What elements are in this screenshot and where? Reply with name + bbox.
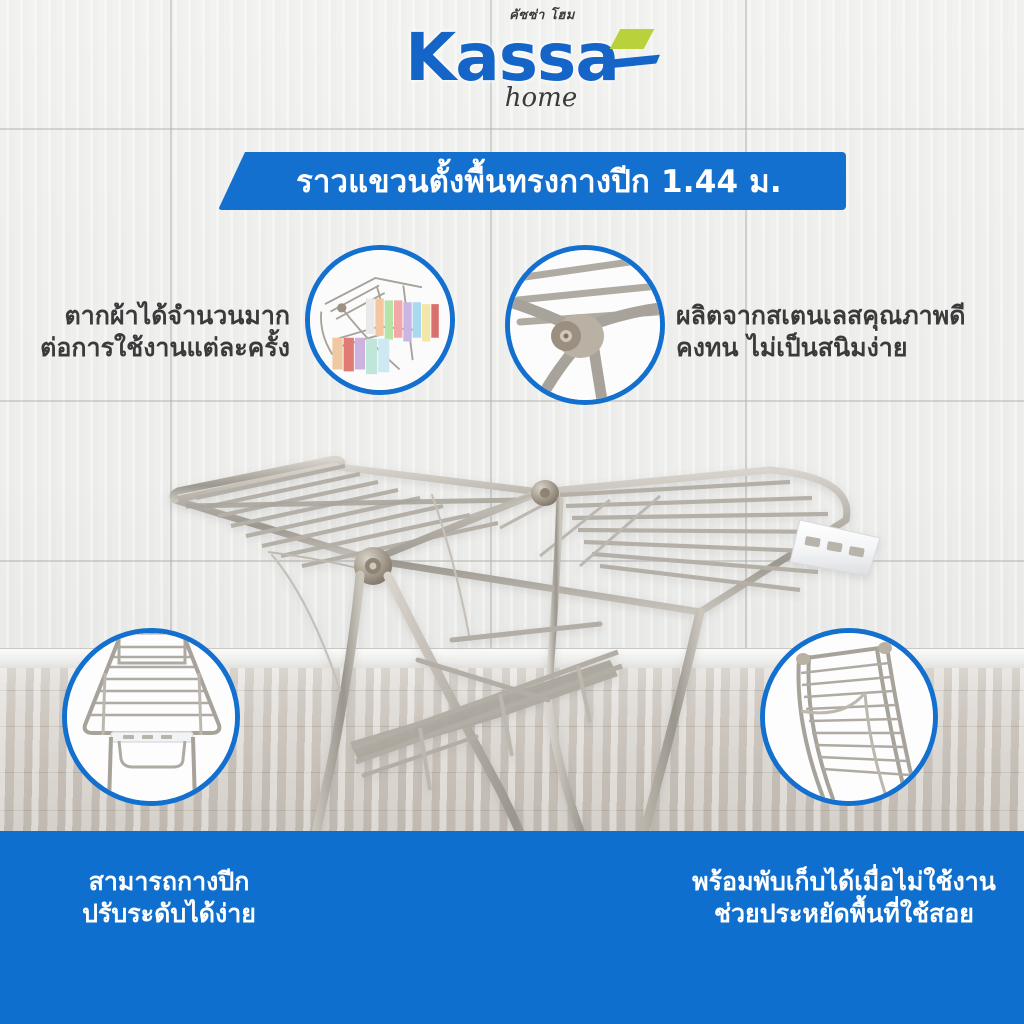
wall-tile-seam (0, 560, 1024, 562)
rack-with-clothes-illustration (310, 250, 450, 390)
feature-text-foldable: พร้อมพับเก็บได้เมื่อไม่ใช้งาน ช่วยประหยั… (672, 866, 1016, 930)
feature-capacity-line2: ต่อการใช้งานแต่ละครั้ง (16, 332, 290, 364)
brand-logo: คัซซ่า โฮม Kassa home (0, 4, 1024, 134)
product-advertisement-poster: คัซซ่า โฮม Kassa home ราวแขวนตั้งพื้นทรง… (0, 0, 1024, 1024)
wing-panel-front-illustration (67, 633, 237, 803)
feature-material-line2: คงทน ไม่เป็นสนิมง่าย (676, 332, 1016, 364)
steel-joint-closeup-illustration (510, 250, 660, 400)
product-title-banner: ราวแขวนตั้งพื้นทรงกางปีก 1.44 ม. (218, 152, 846, 210)
feature-wings-line2: ปรับระดับได้ง่าย (26, 898, 312, 930)
feature-foldable-line1: พร้อมพับเก็บได้เมื่อไม่ใช้งาน (672, 866, 1016, 898)
feature-material-line1: ผลิตจากสเตนเลสคุณภาพดี (676, 300, 1016, 332)
feature-image-capacity (305, 245, 455, 395)
feature-wings-line1: สามารถกางปีก (26, 866, 312, 898)
brand-wordmark: Kassa (405, 23, 619, 93)
feature-text-capacity: ตากผ้าได้จำนวนมาก ต่อการใช้งานแต่ละครั้ง (16, 300, 290, 364)
brand-wordmark-text: Kassa (405, 19, 619, 96)
feature-text-adjustable-wings: สามารถกางปีก ปรับระดับได้ง่าย (26, 866, 312, 930)
feature-capacity-line1: ตากผ้าได้จำนวนมาก (16, 300, 290, 332)
feature-image-material (505, 245, 665, 405)
feature-image-adjustable-wings (62, 628, 240, 806)
wall-tile-seam (0, 400, 1024, 402)
feature-foldable-line2: ช่วยประหยัดพื้นที่ใช้สอย (672, 898, 1016, 930)
feature-image-foldable (760, 628, 938, 806)
page-title: ราวแขวนตั้งพื้นทรงกางปีก 1.44 ม. (282, 156, 782, 206)
feature-text-material: ผลิตจากสเตนเลสคุณภาพดี คงทน ไม่เป็นสนิมง… (676, 300, 1016, 364)
folded-rack-illustration (765, 633, 935, 803)
